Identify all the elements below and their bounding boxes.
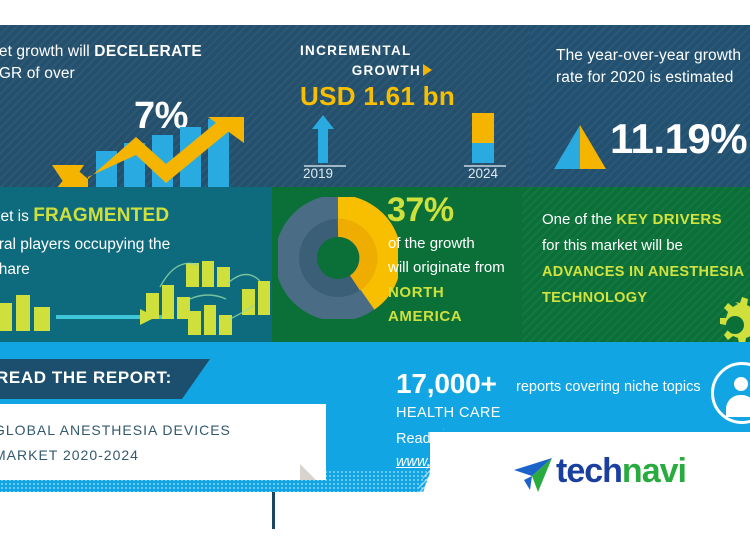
na-region-line1: NORTH bbox=[388, 284, 444, 301]
person-body bbox=[726, 395, 750, 417]
logo-text-part2: navi bbox=[622, 452, 686, 490]
report-title: GLOBAL ANESTHESIA DEVICES MARKET 2020-20… bbox=[0, 418, 231, 467]
middle-row: market is FRAGMENTED several players occ… bbox=[0, 187, 750, 342]
category-label: HEALTH CARE bbox=[396, 405, 501, 421]
report-title-line2: MARKET 2020-2024 bbox=[0, 447, 139, 463]
reports-count: 17,000+ bbox=[396, 368, 497, 400]
incremental-value: USD 1.61 bn bbox=[300, 81, 455, 112]
reports-caption: reports covering niche topics bbox=[516, 379, 701, 395]
top-row: market growth will DECELERATE a CAGR of … bbox=[0, 25, 750, 187]
technavio-logo: technavi bbox=[556, 452, 686, 491]
fragmented-line2: several players occupying the bbox=[0, 236, 170, 253]
na-region-line2: AMERICA bbox=[388, 308, 462, 325]
incremental-year-start: 2019 bbox=[303, 166, 333, 181]
cagr-line1-bold: DECELERATE bbox=[94, 43, 202, 60]
ribbon-tip bbox=[182, 359, 210, 399]
north-america-panel: 37% of the growth will originate from NO… bbox=[272, 187, 522, 342]
incremental-label-line1: INCREMENTAL bbox=[300, 43, 412, 58]
read-report-label: READ THE REPORT: bbox=[0, 368, 172, 388]
key-drivers-panel: One of the KEY DRIVERS for this market w… bbox=[522, 187, 750, 342]
yoy-line2: rate for 2020 is estimated bbox=[556, 69, 734, 86]
kd-line2: for this market will be bbox=[542, 237, 683, 254]
infographic-canvas: market growth will DECELERATE a CAGR of … bbox=[0, 0, 750, 536]
logo-text-part1: tech bbox=[556, 452, 622, 490]
cagr-panel: market growth will DECELERATE a CAGR of … bbox=[0, 25, 272, 187]
fragmented-panel: market is FRAGMENTED several players occ… bbox=[0, 187, 272, 342]
yoy-text: The year-over-year growth rate for 2020 … bbox=[556, 45, 750, 89]
na-line2: will originate from bbox=[388, 259, 505, 276]
donut-chart-37-percent bbox=[278, 197, 398, 319]
gear-icon bbox=[706, 294, 750, 342]
north-america-text: of the growth will originate from NORTH … bbox=[388, 232, 522, 329]
fragmented-line1-plain: market is bbox=[0, 208, 33, 225]
north-america-percent: 37% bbox=[387, 191, 454, 230]
building-cluster-icon bbox=[142, 261, 272, 339]
incremental-growth-panel: INCREMENTAL GROWTH USD 1.61 bn 2019 2024 bbox=[272, 25, 530, 187]
cagr-text: market growth will DECELERATE a CAGR of … bbox=[0, 41, 254, 85]
play-triangle-icon bbox=[423, 64, 432, 76]
report-title-line1: GLOBAL ANESTHESIA DEVICES bbox=[0, 422, 231, 438]
kd-line1-plain: One of the bbox=[542, 211, 616, 228]
declining-arrow-over-bars-icon bbox=[48, 117, 263, 187]
cagr-line1-plain: market growth will bbox=[0, 43, 94, 60]
kd-line1-bold: KEY DRIVERS bbox=[616, 211, 722, 228]
yoy-line1: The year-over-year growth bbox=[556, 47, 741, 64]
cagr-line2: a CAGR of over bbox=[0, 65, 75, 82]
technavio-paperplane-icon bbox=[512, 456, 556, 496]
card-fold-corner bbox=[300, 464, 316, 480]
fragmented-line1-bold: FRAGMENTED bbox=[33, 205, 169, 226]
person-head bbox=[734, 377, 748, 391]
kd-driver-line1: ADVANCES IN ANESTHESIA bbox=[542, 264, 744, 280]
incremental-label: INCREMENTAL GROWTH bbox=[300, 41, 470, 82]
yoy-value: 11.19% bbox=[610, 115, 747, 163]
kd-driver-line2: TECHNOLOGY bbox=[542, 290, 647, 306]
na-line1: of the growth bbox=[388, 235, 475, 252]
growth-triangle-icon bbox=[554, 125, 606, 169]
incremental-label-line2: GROWTH bbox=[352, 63, 421, 78]
yoy-panel: The year-over-year growth rate for 2020 … bbox=[530, 25, 750, 187]
incremental-year-end: 2024 bbox=[468, 166, 498, 181]
